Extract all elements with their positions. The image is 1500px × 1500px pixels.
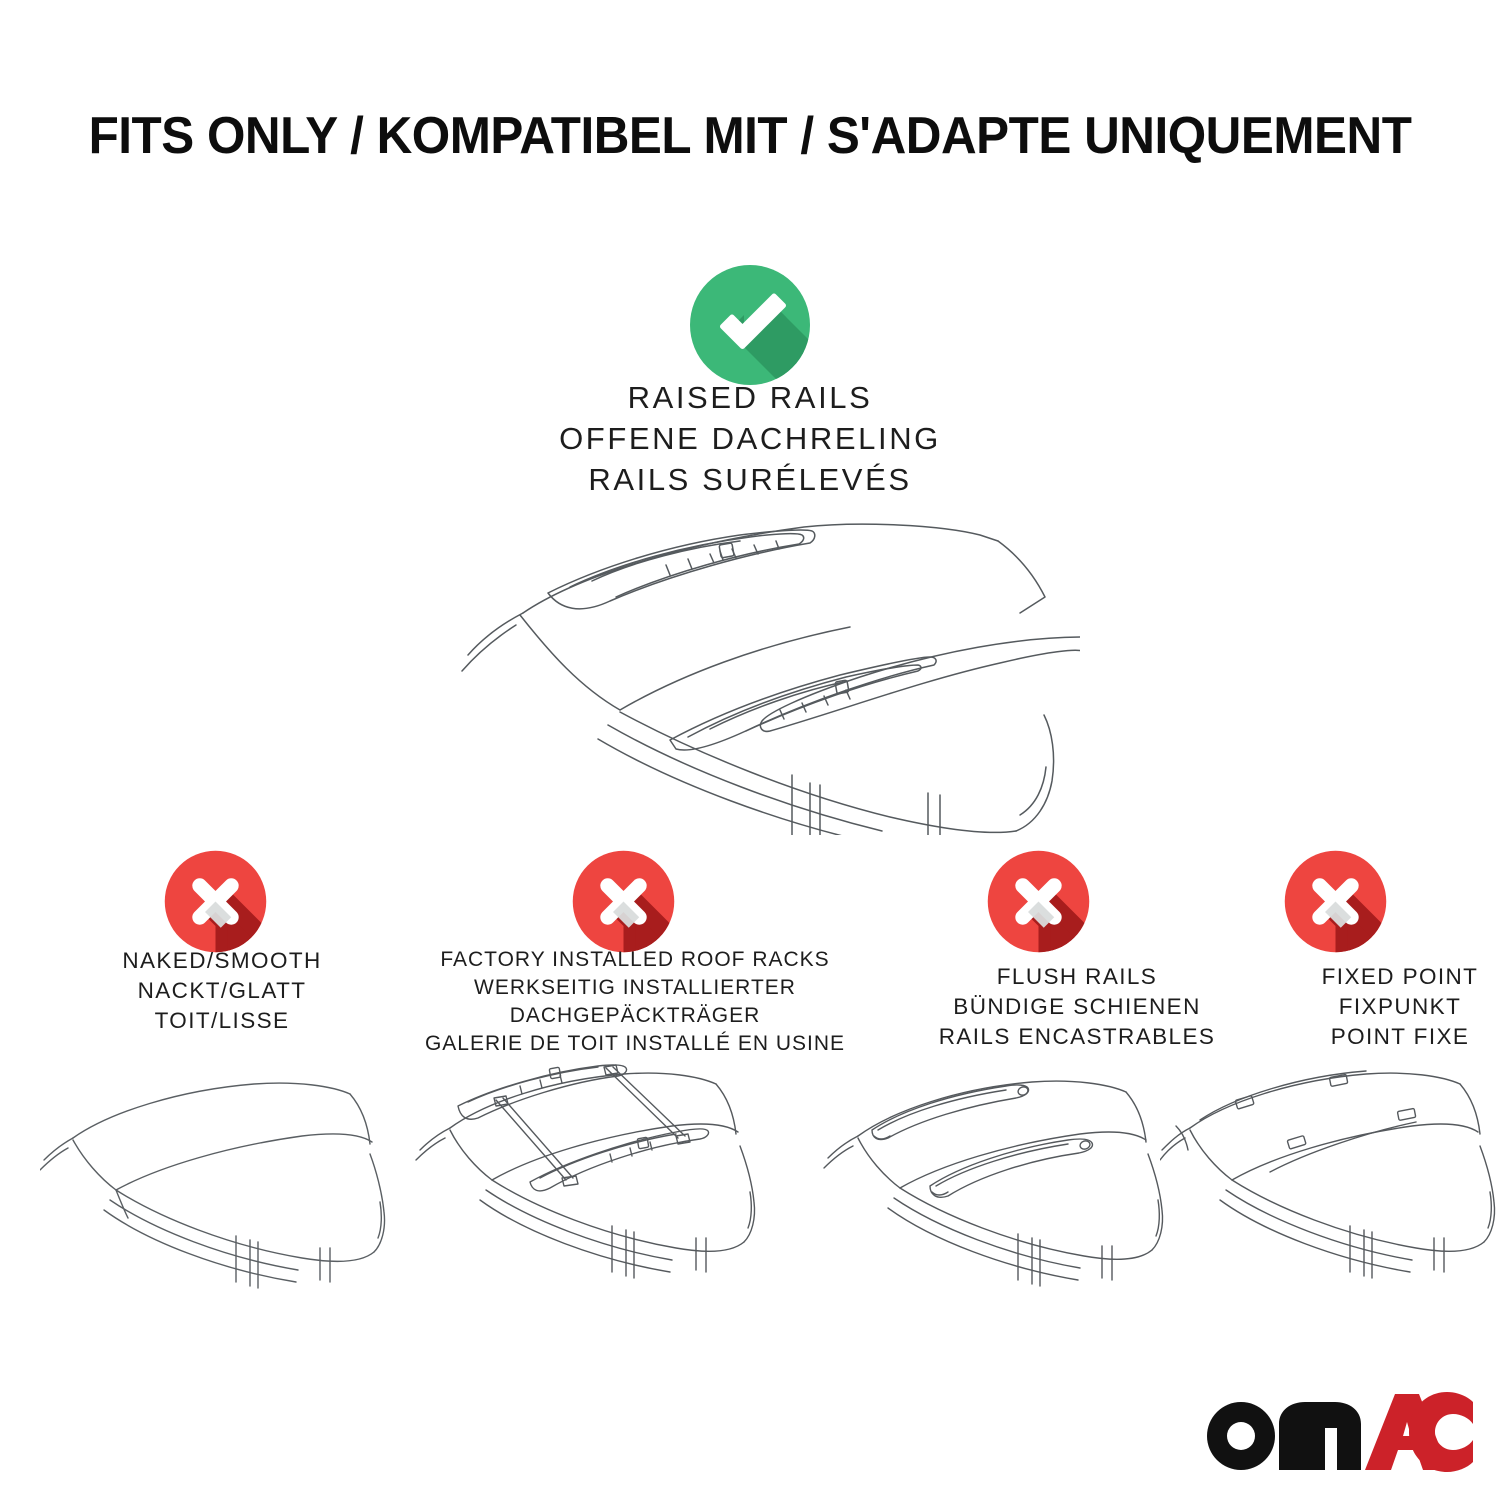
car-roof-factory-roof-racks-illustration [410,1058,780,1310]
car-roof-fixed-point-illustration [1160,1062,1500,1312]
compatible-label-line-1: RAISED RAILS [450,378,1050,419]
label-line: BÜNDIGE SCHIENEN [882,992,1272,1022]
red-x-circle-icon [571,849,676,954]
logo-letter-o [1207,1402,1275,1470]
label-line: FACTORY INSTALLED ROOF RACKS [405,946,865,974]
label-line: NACKT/GLATT [62,976,382,1006]
incompatible-label-naked-smooth: NAKED/SMOOTH NACKT/GLATT TOIT/LISSE [62,946,382,1036]
label-line: FIXPUNKT [1240,992,1500,1022]
label-line: WERKSEITIG INSTALLIERTER [405,974,865,1002]
compatible-label: RAISED RAILS OFFENE DACHRELING RAILS SUR… [450,378,1050,501]
omac-logo [1205,1392,1475,1472]
label-line: GALERIE DE TOIT INSTALLÉ EN USINE [405,1030,865,1058]
incompatible-label-flush-rails: FLUSH RAILS BÜNDIGE SCHIENEN RAILS ENCAS… [882,962,1272,1052]
incompatible-label-fixed-point: FIXED POINT FIXPUNKT POINT FIXE [1240,962,1500,1052]
label-line: FIXED POINT [1240,962,1500,992]
green-check-circle-icon [688,263,812,387]
car-roof-raised-rails-illustration [420,505,1080,835]
compatible-label-line-2: OFFENE DACHRELING [450,419,1050,460]
car-roof-flush-rails-illustration [820,1062,1190,1312]
label-line: DACHGEPÄCKTRÄGER [405,1002,865,1030]
label-line: RAILS ENCASTRABLES [882,1022,1272,1052]
incompatible-label-factory-roof-racks: FACTORY INSTALLED ROOF RACKS WERKSEITIG … [405,946,865,1058]
logo-letter-m [1279,1402,1361,1470]
label-line: TOIT/LISSE [62,1006,382,1036]
label-line: POINT FIXE [1240,1022,1500,1052]
car-roof-naked-smooth-illustration [40,1060,400,1310]
red-x-circle-icon [1283,849,1388,954]
compatible-label-line-3: RAILS SURÉLEVÉS [450,460,1050,501]
label-line: NAKED/SMOOTH [62,946,382,976]
page-title: FITS ONLY / KOMPATIBEL MIT / S'ADAPTE UN… [38,106,1463,166]
red-x-circle-icon [163,849,268,954]
label-line: FLUSH RAILS [882,962,1272,992]
red-x-circle-icon [986,849,1091,954]
